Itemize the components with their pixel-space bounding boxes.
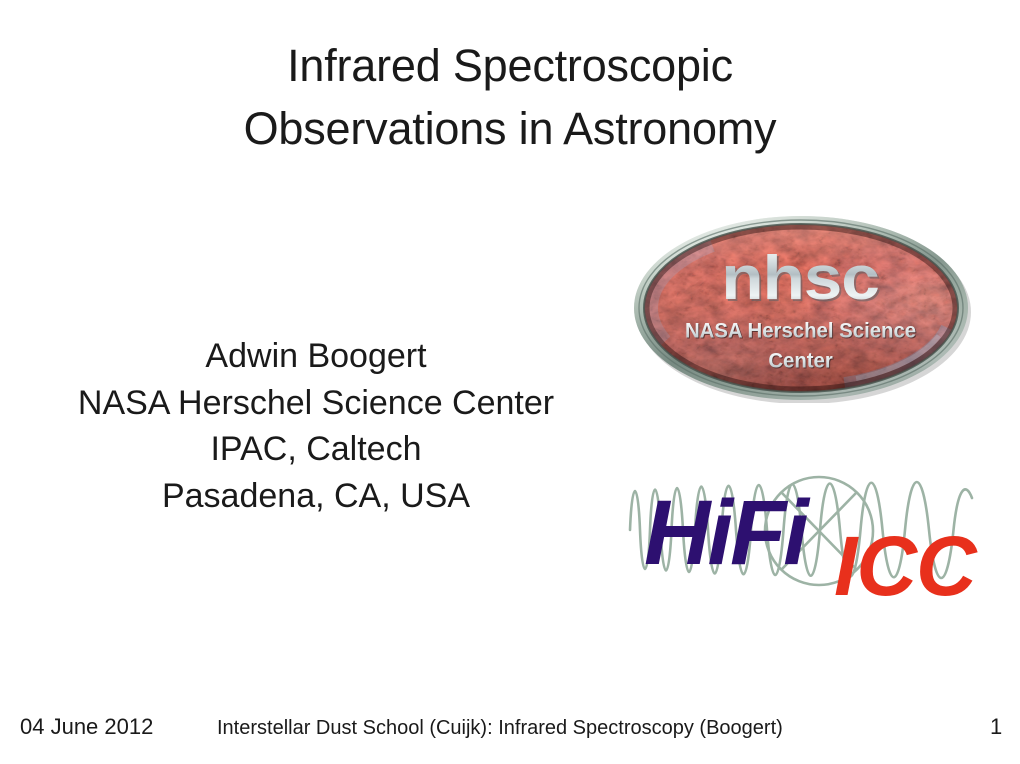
footer-page-number: 1	[990, 713, 1002, 741]
nhsc-logo: nhsc nhsc NASA Herschel Science NASA Her…	[631, 213, 971, 403]
svg-text:NASA Herschel Science: NASA Herschel Science	[685, 319, 916, 342]
slide-canvas: Infrared Spectroscopic Observations in A…	[0, 0, 1020, 764]
author-affiliation-block: Adwin Boogert NASA Herschel Science Cent…	[12, 333, 620, 519]
svg-text:nhsc: nhsc	[721, 242, 879, 312]
page-title: Infrared Spectroscopic Observations in A…	[60, 34, 960, 160]
footer-center-text: Interstellar Dust School (Cuijk): Infrar…	[217, 715, 783, 741]
icc-wordmark: ICC	[834, 519, 978, 610]
author-institute: IPAC, Caltech	[12, 426, 620, 473]
author-org: NASA Herschel Science Center	[12, 380, 620, 427]
svg-text:Center: Center	[768, 349, 832, 372]
author-location: Pasadena, CA, USA	[12, 473, 620, 520]
title-line-2: Observations in Astronomy	[60, 97, 960, 160]
footer-date: 04 June 2012	[20, 713, 153, 741]
title-line-1: Infrared Spectroscopic	[60, 34, 960, 97]
hifi-icc-logo: HiFi ICC	[622, 452, 980, 610]
author-name: Adwin Boogert	[12, 333, 620, 380]
hifi-wordmark: HiFi	[644, 482, 811, 584]
